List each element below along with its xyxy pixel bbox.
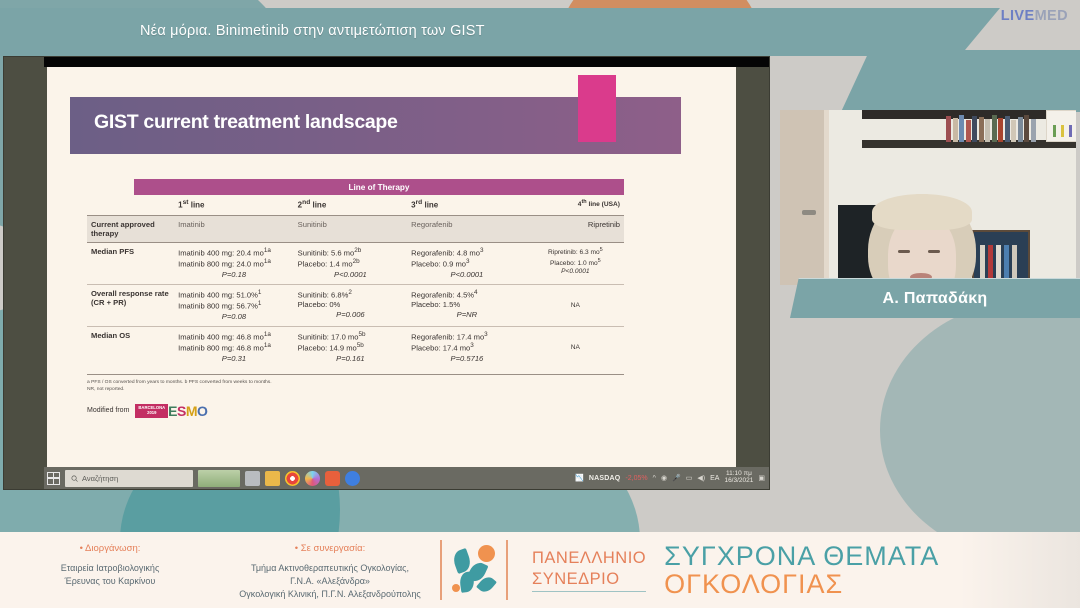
cell-2: Sunitinib: 5.6 mo2b Placebo: 1.4 mo2b P<…	[294, 242, 407, 284]
chevron-up-icon[interactable]: ^	[653, 475, 656, 482]
sponsor-banner: Διοργάνωση: Εταιρεία Ιατροβιολογικής Έρε…	[0, 532, 1080, 608]
congress-title-line-2: ΟΓΚΟΛΟΓΙΑΣ	[664, 570, 939, 598]
cooperation-line-1: Τμήμα Ακτινοθεραπευτικής Ογκολογίας,	[220, 562, 440, 575]
table-header-row: 1st line 2nd line 3rd line 4th line (USA…	[87, 195, 624, 215]
room-door	[780, 110, 824, 285]
logo-live-text: LIVE	[1001, 8, 1035, 24]
teams-icon[interactable]	[345, 471, 360, 486]
cell-2: Sunitinib: 17.0 mo5b Placebo: 14.9 mo5b …	[294, 326, 407, 368]
row-label: Overall response rate (CR + PR)	[87, 284, 174, 326]
col-head-1st-line: 1st line	[174, 195, 294, 215]
cell-4: NA	[527, 284, 624, 326]
col-head-4th-line: 4th line (USA)	[527, 195, 624, 215]
organizer-line-1: Εταιρεία Ιατροβιολογικής	[0, 562, 220, 575]
system-tray[interactable]: 📉 NASDAQ -2,05% ^ ◉ 🎤 ▭ ◀) EA 11:10 πμ 1…	[575, 471, 769, 485]
col-head-3rd-line: 3rd line	[407, 195, 527, 215]
footnote-line-1: a PFS / OS converted from years to month…	[87, 379, 624, 386]
livemed-logo: LIVEMED	[1001, 8, 1068, 24]
cell-4: Ripretinib	[527, 215, 624, 242]
congress-subtitle-line-2: ΣΥΝΕΔΡΙΟ	[532, 569, 646, 593]
barcelona-badge: BARCELONA 2019	[135, 404, 168, 418]
modified-from: Modified from BARCELONA 2019 ESMO	[87, 403, 624, 419]
speaker-hair-front	[872, 194, 972, 230]
leaf-3	[459, 571, 476, 593]
clock-date: 16/3/2021	[724, 477, 753, 484]
presentation-slide: GIST current treatment landscape Line of…	[70, 97, 681, 452]
treatment-table: Line of Therapy 1st line 2nd line 3rd li…	[87, 179, 624, 419]
cooperation-line-2: Γ.Ν.Α. «Αλεξάνδρα»	[220, 575, 440, 588]
language-indicator[interactable]: EA	[710, 475, 719, 482]
slide-title: GIST current treatment landscape	[94, 111, 398, 134]
ticker-value: -2,05%	[625, 475, 647, 482]
ticker-icon: 📉	[575, 474, 584, 482]
cell-1: Imatinib	[174, 215, 294, 242]
weather-widget[interactable]	[198, 470, 240, 487]
bg-arc-right	[880, 300, 1080, 560]
photos-icon[interactable]	[305, 471, 320, 486]
logo-med-text: MED	[1035, 8, 1068, 24]
cell-1: Imatinib 400 mg: 20.4 mo1a Imatinib 800 …	[174, 242, 294, 284]
cell-1: Imatinib 400 mg: 46.8 mo1a Imatinib 800 …	[174, 326, 294, 368]
office-icon[interactable]	[325, 471, 340, 486]
banner-fade-overlay	[960, 532, 1080, 608]
esmo-letter-o: O	[197, 403, 207, 419]
cell-4: Ripretinib: 6.3 mo5 Placebo: 1.0 mo5 P<0…	[527, 242, 624, 284]
cell-3: Regorafenib: 4.8 mo3 Placebo: 0.9 mo3 P<…	[407, 242, 527, 284]
door-handle	[802, 210, 816, 215]
esmo-letter-m: M	[186, 403, 197, 419]
search-icon	[71, 475, 78, 482]
table: 1st line 2nd line 3rd line 4th line (USA…	[87, 195, 624, 368]
table-footnote: a PFS / OS converted from years to month…	[87, 374, 624, 394]
page-title: Νέα μόρια. Binimetinib στην αντιμετώπιση…	[140, 23, 485, 39]
congress-subtitle: ΠΑΝΕΛΛΗΝΙΟ ΣΥΝΕΔΡΙΟ	[532, 548, 646, 592]
cell-3: Regorafenib: 4.5%4 Placebo: 1.5% P=NR	[407, 284, 527, 326]
microphone-icon[interactable]: 🎤	[672, 474, 681, 482]
taskbar-clock[interactable]: 11:10 πμ 16/3/2021	[724, 471, 753, 485]
cell-3: Regorafenib	[407, 215, 527, 242]
congress-main-title: ΣΥΓΧΡΟΝΑ ΘΕΜΑΤΑ ΟΓΚΟΛΟΓΙΑΣ	[664, 542, 939, 599]
esmo-letter-s: S	[177, 403, 186, 419]
volume-icon[interactable]: ◀)	[697, 474, 705, 482]
leaf-dot-bottom	[452, 584, 460, 592]
webinar-screen: Νέα μόρια. Binimetinib στην αντιμετώπιση…	[0, 0, 1080, 608]
organizer-body: Εταιρεία Ιατροβιολογικής Έρευνας του Καρ…	[0, 562, 220, 588]
congress-title-line-1: ΣΥΓΧΡΟΝΑ ΘΕΜΑΤΑ	[664, 542, 939, 570]
windows-taskbar[interactable]: Αναζήτηση 📉 NASDAQ -2,05% ^ ◉ 🎤 ▭ ◀) EA …	[44, 467, 769, 489]
leaf-dot-top	[478, 545, 495, 562]
shield-icon[interactable]: ◉	[661, 474, 667, 482]
file-explorer-icon[interactable]	[265, 471, 280, 486]
table-row: Median OS Imatinib 400 mg: 46.8 mo1a Ima…	[87, 326, 624, 368]
sponsor-left: Διοργάνωση: Εταιρεία Ιατροβιολογικής Έρε…	[0, 532, 440, 608]
chrome-icon[interactable]	[285, 471, 300, 486]
start-icon[interactable]	[47, 472, 60, 485]
congress-leaf-logo	[442, 532, 506, 608]
cooperation-line-3: Ογκολογική Κλινική, Π.Γ.Ν. Αλεξανδρούπολ…	[220, 588, 440, 601]
search-placeholder-text: Αναζήτηση	[82, 474, 118, 483]
speaker-name-banner: Α. Παπαδάκη	[790, 278, 1080, 318]
footnote-line-2: NR, not reported.	[87, 386, 624, 393]
slide-accent-tab	[578, 75, 616, 142]
desktop-page: GIST current treatment landscape Line of…	[47, 67, 736, 467]
congress-subtitle-line-1: ΠΑΝΕΛΛΗΝΙΟ	[532, 548, 646, 569]
screen-top-black-bar	[44, 57, 769, 67]
cell-2: Sunitinib: 6.8%2 Placebo: 0% P=0.006	[294, 284, 407, 326]
search-input[interactable]: Αναζήτηση	[65, 470, 193, 487]
room-door-frame	[824, 110, 829, 285]
barcelona-year: 2019	[147, 410, 156, 415]
organizer-line-2: Έρευνας του Καρκίνου	[0, 575, 220, 588]
col-head-blank	[87, 195, 174, 215]
speaker-eye-left	[898, 250, 910, 253]
table-row: Overall response rate (CR + PR) Imatinib…	[87, 284, 624, 326]
speaker-name: Α. Παπαδάκη	[882, 290, 987, 308]
video-top-band	[841, 50, 1080, 112]
row-label: Current approved therapy	[87, 215, 174, 242]
organizer-heading: Διοργάνωση:	[0, 543, 220, 554]
cell-3: Regorafenib: 17.4 mo3 Placebo: 17.4 mo3 …	[407, 326, 527, 368]
organizer-block: Διοργάνωση: Εταιρεία Ιατροβιολογικής Έρε…	[0, 532, 220, 608]
cell-2: Sunitinib	[294, 215, 407, 242]
col-head-2nd-line: 2nd line	[294, 195, 407, 215]
speaker-eye-right	[928, 250, 940, 253]
esmo-letter-e: E	[168, 403, 177, 419]
cell-1: Imatinib 400 mg: 51.0%1 Imatinib 800 mg:…	[174, 284, 294, 326]
wall-art	[1046, 110, 1076, 142]
speaker-video-tile[interactable]: Α. Παπαδάκη	[780, 50, 1080, 322]
table-row: Median PFS Imatinib 400 mg: 20.4 mo1a Im…	[87, 242, 624, 284]
esmo-logo: BARCELONA 2019 ESMO	[135, 403, 207, 419]
cooperation-block: Σε συνεργασία: Τμήμα Ακτινοθεραπευτικής …	[220, 532, 440, 608]
display-icon[interactable]: ▭	[686, 474, 693, 482]
ticker-name: NASDAQ	[589, 475, 621, 482]
cooperation-heading: Σε συνεργασία:	[220, 543, 440, 554]
notifications-icon[interactable]: ▣	[758, 474, 765, 482]
task-view-icon[interactable]	[245, 471, 260, 486]
cell-4: NA	[527, 326, 624, 368]
row-label: Median PFS	[87, 242, 174, 284]
row-label: Median OS	[87, 326, 174, 368]
shared-screen[interactable]: GIST current treatment landscape Line of…	[3, 56, 770, 490]
framed-picture	[972, 230, 1030, 285]
cooperation-body: Τμήμα Ακτινοθεραπευτικής Ογκολογίας, Γ.Ν…	[220, 562, 440, 601]
modified-from-label: Modified from	[87, 407, 129, 414]
esmo-wordmark: ESMO	[168, 403, 207, 419]
speaker-video	[780, 110, 1076, 285]
table-group-header: Line of Therapy	[134, 179, 624, 195]
table-row: Current approved therapy Imatinib Suniti…	[87, 215, 624, 242]
